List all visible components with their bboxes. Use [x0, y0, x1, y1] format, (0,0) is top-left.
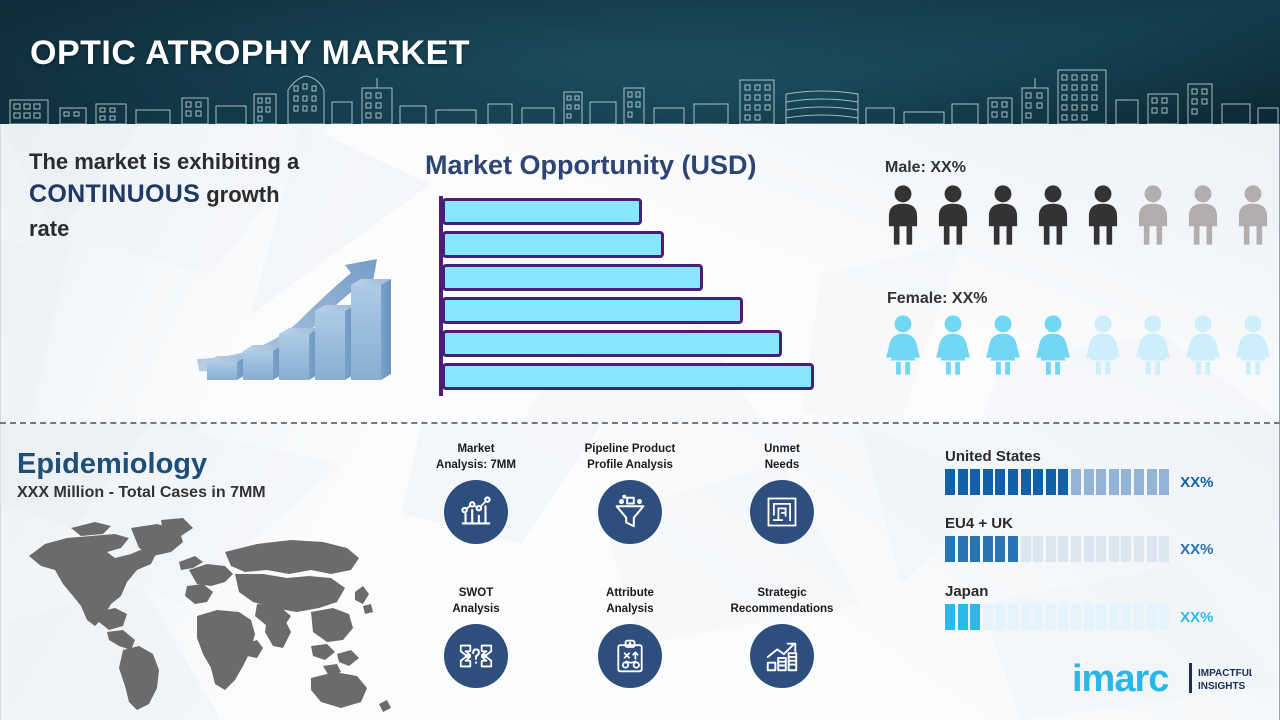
- market-tagline: The market is exhibiting a CONTINUOUS gr…: [29, 146, 399, 244]
- male-person-icon: [978, 184, 1028, 246]
- segment: [1008, 536, 1018, 562]
- male-person-icon: [1028, 184, 1078, 246]
- segment: [1008, 604, 1018, 630]
- segment: [1134, 469, 1144, 495]
- tile-strategic-recommendations[interactable]: Strategic Recommendations: [707, 586, 857, 688]
- region-name: United States: [945, 448, 1215, 465]
- segment: [1084, 604, 1094, 630]
- bar-chart-trend-icon: [444, 480, 508, 544]
- clipboard-strategy-icon: [598, 624, 662, 688]
- tagline-line-3: rate: [29, 216, 69, 241]
- tagline-line-2: growth: [206, 182, 279, 207]
- funnel-filter-icon: [598, 480, 662, 544]
- segment: [995, 536, 1005, 562]
- female-person-icon: [1178, 314, 1228, 376]
- region-percent: XX%: [1180, 541, 1213, 558]
- epidemiology-title: Epidemiology: [17, 448, 207, 481]
- male-person-icon: [1228, 184, 1278, 246]
- segment: [1021, 604, 1031, 630]
- segment: [1046, 604, 1056, 630]
- region-japan: Japan XX%: [945, 583, 1215, 630]
- male-person-icon: [928, 184, 978, 246]
- segment: [958, 536, 968, 562]
- segment: [1159, 536, 1169, 562]
- tile-label-line2: Analysis: 7MM: [436, 459, 516, 471]
- segment: [970, 469, 980, 495]
- male-pictogram-row: [878, 184, 1278, 246]
- segment: [1071, 536, 1081, 562]
- tile-label-line1: Unmet: [764, 443, 800, 455]
- segment: [1084, 536, 1094, 562]
- segment: [1058, 536, 1068, 562]
- region-name: Japan: [945, 583, 1215, 600]
- market-opportunity-title: Market Opportunity (USD): [425, 150, 757, 181]
- segment: [1109, 604, 1119, 630]
- svg-text:IMPACTFUL: IMPACTFUL: [1198, 668, 1252, 679]
- market-opportunity-chart: [439, 196, 839, 396]
- region-segment-track: [945, 469, 1169, 495]
- segment: [983, 604, 993, 630]
- opportunity-bar: [442, 363, 814, 390]
- female-person-icon: [878, 314, 928, 376]
- segment: [1071, 604, 1081, 630]
- male-person-icon: [1078, 184, 1128, 246]
- region-percent: XX%: [1180, 474, 1213, 491]
- segment: [1147, 469, 1157, 495]
- segment: [1159, 604, 1169, 630]
- opportunity-bar: [442, 297, 743, 324]
- tile-label-line1: Strategic: [757, 587, 806, 599]
- segment: [1021, 469, 1031, 495]
- segment: [1147, 604, 1157, 630]
- tile-label-line1: SWOT: [459, 587, 494, 599]
- segment: [1121, 469, 1131, 495]
- segment: [1033, 536, 1043, 562]
- segment: [1084, 469, 1094, 495]
- swot-arrows-question-icon: [444, 624, 508, 688]
- world-map-icon: [11, 508, 431, 713]
- opportunity-bar: [442, 231, 664, 258]
- tile-label-line2: Profile Analysis: [587, 459, 673, 471]
- svg-text:imarc: imarc: [1072, 658, 1169, 700]
- segment: [1134, 604, 1144, 630]
- tile-label-line2: Analysis: [452, 603, 499, 615]
- segment: [1033, 469, 1043, 495]
- female-person-icon: [1228, 314, 1278, 376]
- tile-label-line1: Pipeline Product: [585, 443, 676, 455]
- tagline-highlight: CONTINUOUS: [29, 180, 200, 208]
- female-person-icon: [1128, 314, 1178, 376]
- male-person-icon: [878, 184, 928, 246]
- segment: [1121, 536, 1131, 562]
- segment: [1134, 536, 1144, 562]
- segment: [1058, 604, 1068, 630]
- segment: [1046, 469, 1056, 495]
- tile-label-line1: Market: [457, 443, 494, 455]
- region-name: EU4 + UK: [945, 515, 1215, 532]
- opportunity-bar: [442, 264, 703, 291]
- female-label: Female: XX%: [887, 290, 987, 308]
- segment: [1033, 604, 1043, 630]
- segment: [1096, 604, 1106, 630]
- segment: [945, 536, 955, 562]
- segment: [1147, 536, 1157, 562]
- female-pictogram-row: [878, 314, 1278, 376]
- imarc-logo[interactable]: imarc IMPACTFUL INSIGHTS: [1072, 655, 1252, 703]
- growth-chart-arrow-icon: [750, 624, 814, 688]
- page-title: OPTIC ATROPHY MARKET: [30, 34, 470, 73]
- epidemiology-subtitle: XXX Million - Total Cases in 7MM: [17, 484, 266, 502]
- segment: [995, 604, 1005, 630]
- segment: [1159, 469, 1169, 495]
- female-person-icon: [978, 314, 1028, 376]
- opportunity-bar: [442, 330, 782, 357]
- segment: [945, 604, 955, 630]
- tile-swot-analysis[interactable]: SWOT Analysis: [401, 586, 551, 688]
- segment: [1008, 469, 1018, 495]
- segment: [1096, 536, 1106, 562]
- region-united-states: United States XX%: [945, 448, 1215, 495]
- male-label: Male: XX%: [885, 159, 966, 177]
- region-percent: XX%: [1180, 609, 1213, 626]
- segment: [1109, 469, 1119, 495]
- page-header: OPTIC ATROPHY MARKET: [0, 0, 1280, 124]
- region-segment-track: [945, 536, 1169, 562]
- region-eu4-uk: EU4 + UK XX%: [945, 515, 1215, 562]
- segment: [958, 469, 968, 495]
- female-person-icon: [1028, 314, 1078, 376]
- segment: [983, 469, 993, 495]
- section-divider: [0, 422, 1280, 424]
- segment: [958, 604, 968, 630]
- segment: [970, 536, 980, 562]
- segment: [1046, 536, 1056, 562]
- segment: [1096, 469, 1106, 495]
- segment: [1021, 536, 1031, 562]
- tile-label-line2: Needs: [765, 459, 800, 471]
- infographic-page: OPTIC ATROPHY MARKET The market is exhib…: [0, 0, 1280, 720]
- tagline-line-1: The market is exhibiting a: [29, 149, 299, 174]
- opportunity-bar: [442, 198, 642, 225]
- female-person-icon: [928, 314, 978, 376]
- male-person-icon: [1128, 184, 1178, 246]
- svg-text:INSIGHTS: INSIGHTS: [1198, 681, 1246, 692]
- segment: [995, 469, 1005, 495]
- tile-label-line2: Recommendations: [731, 603, 834, 615]
- tile-label-line2: Analysis: [606, 603, 653, 615]
- segment: [1121, 604, 1131, 630]
- maze-icon: [750, 480, 814, 544]
- tile-market-analysis[interactable]: Market Analysis: 7MM: [401, 442, 551, 544]
- growth-bar-chart-arrow-icon: [191, 249, 391, 384]
- segment: [970, 604, 980, 630]
- tile-pipeline-product-profile-analysis[interactable]: Pipeline Product Profile Analysis: [555, 442, 705, 544]
- tile-label-line1: Attribute: [606, 587, 654, 599]
- male-person-icon: [1178, 184, 1228, 246]
- tile-unmet-needs[interactable]: Unmet Needs: [707, 442, 857, 544]
- segment: [1058, 469, 1068, 495]
- region-segment-track: [945, 604, 1169, 630]
- top-section: The market is exhibiting a CONTINUOUS gr…: [0, 124, 1280, 422]
- tile-attribute-analysis[interactable]: Attribute Analysis: [555, 586, 705, 688]
- segment: [1109, 536, 1119, 562]
- segment: [945, 469, 955, 495]
- segment: [1071, 469, 1081, 495]
- female-person-icon: [1078, 314, 1128, 376]
- segment: [983, 536, 993, 562]
